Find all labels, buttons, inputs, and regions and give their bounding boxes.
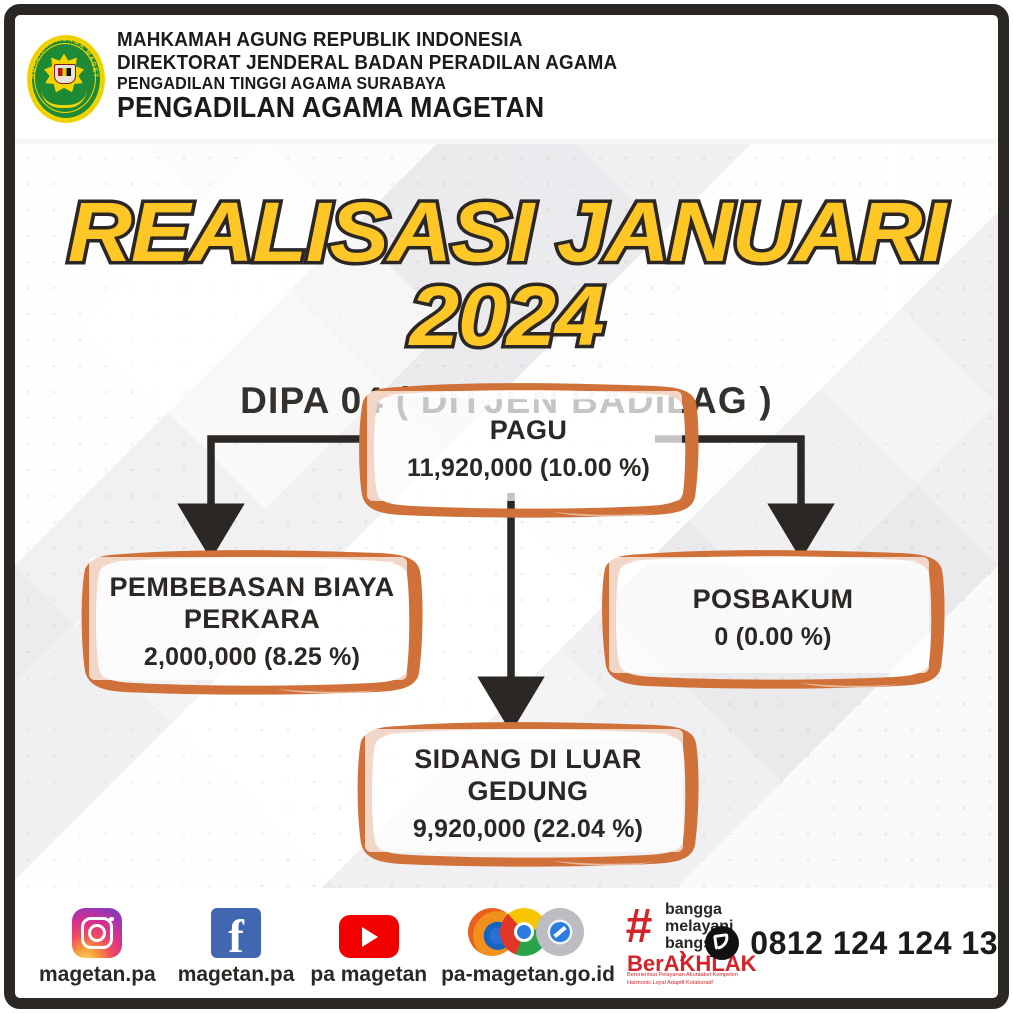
social-facebook[interactable]: f magetan.pa xyxy=(178,899,295,987)
pagu-value: 11,920,000 (10.00 %) xyxy=(407,452,650,485)
posbakum-value: 0 (0.00 %) xyxy=(693,621,854,654)
youtube-icon[interactable] xyxy=(339,915,399,958)
pagu-label: PAGU xyxy=(407,415,650,447)
poster-root: PENGADILAN AGAMA MAGETAN MAHKAMAH AGUNG … xyxy=(0,0,1013,1013)
social-website[interactable]: pa-magetan.go.id xyxy=(441,899,615,987)
website-label: pa-magetan.go.id xyxy=(441,963,615,987)
web-browsers-icon[interactable] xyxy=(468,906,588,958)
posbakum-label: POSBAKUM xyxy=(693,584,854,616)
instagram-icon[interactable] xyxy=(72,908,122,958)
berakhlak-word-1: bangga xyxy=(665,902,722,919)
berakhlak-tagline-1: Berorientasi Pelayanan Akuntabel Kompete… xyxy=(627,972,751,980)
pembebasan-label-line1: PEMBEBASAN BIAYA xyxy=(110,572,395,604)
node-pagu: PAGU 11,920,000 (10.00 %) xyxy=(355,379,702,521)
berakhlak-tagline-2: Harmonis Loyal Adaptif Kolaboratif xyxy=(627,980,751,988)
node-pembebasan-biaya-perkara: PEMBEBASAN BIAYA PERKARA 2,000,000 (8.25… xyxy=(77,545,427,700)
poster-canvas: PENGADILAN AGAMA MAGETAN MAHKAMAH AGUNG … xyxy=(15,15,998,998)
berakhlak-tagline: Berorientasi Pelayanan Akuntabel Kompete… xyxy=(627,972,751,987)
social-instagram[interactable]: magetan.pa xyxy=(39,899,156,987)
pembebasan-label-line2: PERKARA xyxy=(110,604,395,636)
safari-icon xyxy=(536,908,584,956)
pembebasan-value: 2,000,000 (8.25 %) xyxy=(110,641,395,674)
sidang-label-line2: GEDUNG xyxy=(413,776,643,808)
social-youtube[interactable]: pa magetan xyxy=(310,899,427,987)
poster-footer: magetan.pa f magetan.pa pa magetan pa-ma… xyxy=(15,888,998,998)
sidang-value: 9,920,000 (22.04 %) xyxy=(413,813,643,846)
node-sidang-di-luar-gedung: SIDANG DI LUAR GEDUNG 9,920,000 (22.04 %… xyxy=(353,717,703,872)
facebook-icon[interactable]: f xyxy=(211,908,261,958)
whatsapp-number: 0812 124 124 13 xyxy=(750,925,998,962)
berakhlak-logo: # bangga melayani bangsa BerAKHLAK › Ber… xyxy=(625,899,689,981)
youtube-label: pa magetan xyxy=(310,963,427,987)
chevron-right-icon: › xyxy=(679,939,688,970)
instagram-label: magetan.pa xyxy=(39,963,156,987)
sidang-label-line1: SIDANG DI LUAR xyxy=(413,744,643,776)
facebook-label: magetan.pa xyxy=(178,963,295,987)
hashtag-icon: # xyxy=(625,903,652,951)
node-posbakum: POSBAKUM 0 (0.00 %) xyxy=(597,545,949,693)
